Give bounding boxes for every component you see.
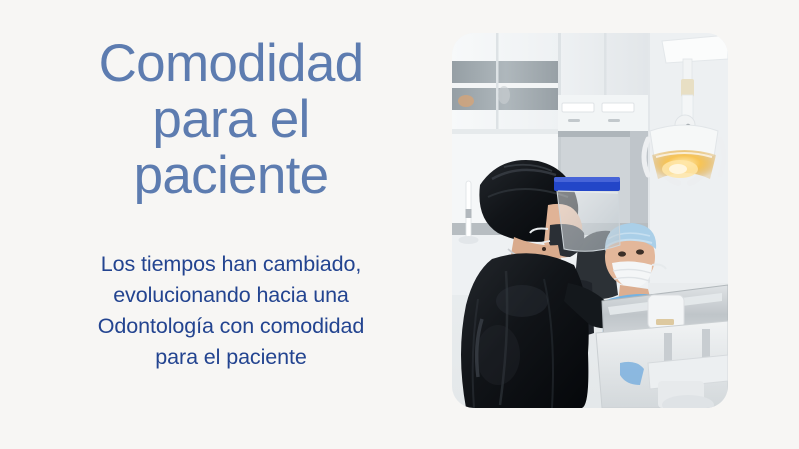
clinic-photo (452, 33, 728, 408)
clinic-photo-illustration (452, 33, 728, 408)
text-column: Comodidad para el paciente Los tiempos h… (40, 36, 422, 416)
slide-canvas: Comodidad para el paciente Los tiempos h… (0, 0, 799, 449)
page-title: Comodidad para el paciente (40, 36, 422, 204)
body-paragraph: Los tiempos han cambiado, evolucionando … (81, 249, 381, 373)
